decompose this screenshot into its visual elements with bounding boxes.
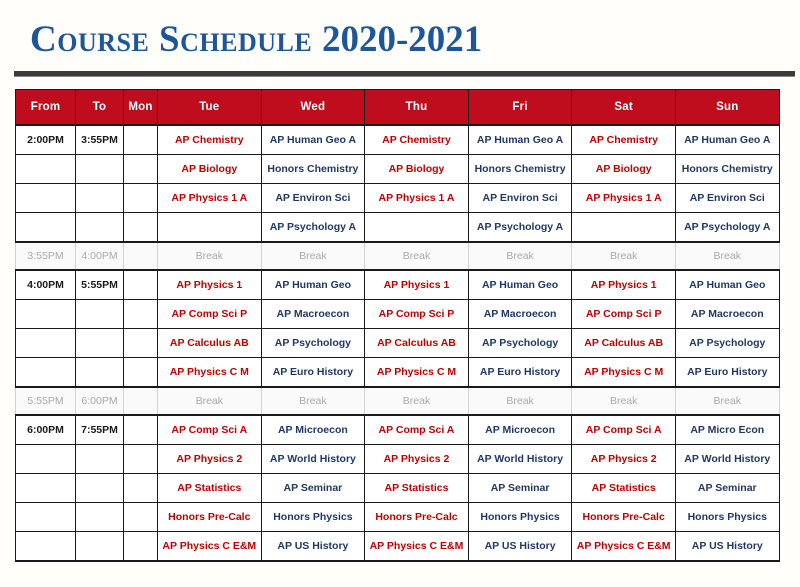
- cell-fri: AP Microecon: [468, 415, 572, 445]
- table-row: AP StatisticsAP SeminarAP StatisticsAP S…: [16, 474, 780, 503]
- cell-from: [16, 213, 76, 243]
- cell-tue: AP Biology: [158, 155, 262, 184]
- cell-from: [16, 532, 76, 562]
- table-row: AP BiologyHonors ChemistryAP BiologyHono…: [16, 155, 780, 184]
- table-row: AP Physics C E&MAP US HistoryAP Physics …: [16, 532, 780, 562]
- cell-thu: Break: [365, 242, 469, 270]
- cell-wed: AP Human Geo: [261, 270, 365, 300]
- cell-from: [16, 445, 76, 474]
- cell-mon: [124, 213, 158, 243]
- document-page: Course Schedule 2020-2021 From To Mon Tu…: [0, 0, 800, 587]
- table-row: Honors Pre-CalcHonors PhysicsHonors Pre-…: [16, 503, 780, 532]
- cell-thu: Break: [365, 387, 469, 415]
- cell-sat: AP Biology: [572, 155, 676, 184]
- cell-to: [76, 474, 124, 503]
- cell-tue: Break: [158, 242, 262, 270]
- cell-fri: AP Human Geo A: [468, 125, 572, 155]
- cell-thu: AP Calculus AB: [365, 329, 469, 358]
- cell-from: 3:55PM: [16, 242, 76, 270]
- cell-from: [16, 300, 76, 329]
- cell-to: [76, 155, 124, 184]
- cell-wed: Honors Physics: [261, 503, 365, 532]
- column-header-tue: Tue: [158, 90, 262, 126]
- cell-tue: AP Physics 2: [158, 445, 262, 474]
- column-header-mon: Mon: [124, 90, 158, 126]
- cell-thu: [365, 213, 469, 243]
- cell-sun: AP Seminar: [675, 474, 779, 503]
- cell-thu: Honors Pre-Calc: [365, 503, 469, 532]
- cell-to: [76, 503, 124, 532]
- cell-sun: AP Micro Econ: [675, 415, 779, 445]
- cell-to: 3:55PM: [76, 125, 124, 155]
- cell-fri: Honors Chemistry: [468, 155, 572, 184]
- cell-fri: AP World History: [468, 445, 572, 474]
- cell-sat: AP Comp Sci P: [572, 300, 676, 329]
- cell-to: [76, 184, 124, 213]
- cell-mon: [124, 474, 158, 503]
- cell-sat: AP Physics C M: [572, 358, 676, 388]
- cell-wed: AP Macroecon: [261, 300, 365, 329]
- cell-tue: [158, 213, 262, 243]
- cell-mon: [124, 358, 158, 388]
- cell-to: [76, 358, 124, 388]
- table-row: 2:00PM3:55PMAP ChemistryAP Human Geo AAP…: [16, 125, 780, 155]
- cell-from: [16, 329, 76, 358]
- cell-tue: AP Physics C M: [158, 358, 262, 388]
- cell-mon: [124, 329, 158, 358]
- cell-tue: AP Statistics: [158, 474, 262, 503]
- table-row: AP Physics 1 AAP Environ SciAP Physics 1…: [16, 184, 780, 213]
- cell-sun: AP Psychology: [675, 329, 779, 358]
- cell-wed: AP Psychology A: [261, 213, 365, 243]
- table-body: 2:00PM3:55PMAP ChemistryAP Human Geo AAP…: [16, 125, 780, 561]
- cell-fri: AP Psychology: [468, 329, 572, 358]
- cell-to: 4:00PM: [76, 242, 124, 270]
- cell-sun: Honors Physics: [675, 503, 779, 532]
- cell-wed: AP Seminar: [261, 474, 365, 503]
- cell-fri: AP Macroecon: [468, 300, 572, 329]
- table-row: 5:55PM6:00PMBreakBreakBreakBreakBreakBre…: [16, 387, 780, 415]
- cell-to: [76, 445, 124, 474]
- cell-wed: Break: [261, 242, 365, 270]
- cell-thu: AP Biology: [365, 155, 469, 184]
- cell-mon: [124, 415, 158, 445]
- cell-mon: [124, 184, 158, 213]
- table-header-row: From To Mon Tue Wed Thu Fri Sat Sun: [16, 90, 780, 126]
- cell-from: [16, 474, 76, 503]
- cell-from: 5:55PM: [16, 387, 76, 415]
- cell-wed: AP Psychology: [261, 329, 365, 358]
- cell-sun: Break: [675, 242, 779, 270]
- cell-tue: AP Physics 1 A: [158, 184, 262, 213]
- table-header: From To Mon Tue Wed Thu Fri Sat Sun: [16, 90, 780, 126]
- cell-fri: Honors Physics: [468, 503, 572, 532]
- cell-sat: AP Physics 2: [572, 445, 676, 474]
- table-row: AP Comp Sci PAP MacroeconAP Comp Sci PAP…: [16, 300, 780, 329]
- cell-fri: AP Human Geo: [468, 270, 572, 300]
- table-row: AP Physics C MAP Euro HistoryAP Physics …: [16, 358, 780, 388]
- cell-fri: Break: [468, 242, 572, 270]
- cell-wed: AP Euro History: [261, 358, 365, 388]
- page-title: Course Schedule 2020-2021: [30, 16, 482, 62]
- table-row: AP Calculus ABAP PsychologyAP Calculus A…: [16, 329, 780, 358]
- cell-sat: AP Calculus AB: [572, 329, 676, 358]
- cell-tue: AP Comp Sci A: [158, 415, 262, 445]
- cell-thu: AP Comp Sci P: [365, 300, 469, 329]
- cell-from: 2:00PM: [16, 125, 76, 155]
- cell-mon: [124, 532, 158, 562]
- cell-sat: Break: [572, 242, 676, 270]
- cell-to: [76, 300, 124, 329]
- cell-thu: AP Comp Sci A: [365, 415, 469, 445]
- table-row: 3:55PM4:00PMBreakBreakBreakBreakBreakBre…: [16, 242, 780, 270]
- cell-to: [76, 329, 124, 358]
- cell-mon: [124, 503, 158, 532]
- cell-sat: Break: [572, 387, 676, 415]
- cell-to: [76, 532, 124, 562]
- cell-sun: AP Human Geo: [675, 270, 779, 300]
- cell-to: [76, 213, 124, 243]
- cell-tue: Break: [158, 387, 262, 415]
- cell-sun: AP Human Geo A: [675, 125, 779, 155]
- cell-mon: [124, 270, 158, 300]
- cell-wed: Break: [261, 387, 365, 415]
- table-row: AP Psychology AAP Psychology AAP Psychol…: [16, 213, 780, 243]
- cell-sun: AP Environ Sci: [675, 184, 779, 213]
- page-title-main: Course Schedule: [30, 19, 322, 60]
- cell-sun: AP Macroecon: [675, 300, 779, 329]
- cell-mon: [124, 445, 158, 474]
- cell-from: [16, 358, 76, 388]
- column-header-from: From: [16, 90, 76, 126]
- cell-thu: AP Physics C M: [365, 358, 469, 388]
- column-header-to: To: [76, 90, 124, 126]
- cell-thu: AP Physics C E&M: [365, 532, 469, 562]
- table-row: 4:00PM5:55PMAP Physics 1AP Human GeoAP P…: [16, 270, 780, 300]
- cell-from: [16, 503, 76, 532]
- cell-wed: AP US History: [261, 532, 365, 562]
- cell-sun: Honors Chemistry: [675, 155, 779, 184]
- cell-wed: AP Environ Sci: [261, 184, 365, 213]
- cell-fri: Break: [468, 387, 572, 415]
- cell-fri: AP Euro History: [468, 358, 572, 388]
- cell-sat: AP Chemistry: [572, 125, 676, 155]
- cell-sun: AP Psychology A: [675, 213, 779, 243]
- column-header-fri: Fri: [468, 90, 572, 126]
- cell-to: 5:55PM: [76, 270, 124, 300]
- title-divider: [14, 71, 795, 77]
- cell-tue: AP Chemistry: [158, 125, 262, 155]
- cell-tue: AP Comp Sci P: [158, 300, 262, 329]
- page-title-text: Course Schedule 2020-2021: [30, 21, 482, 58]
- cell-wed: AP Microecon: [261, 415, 365, 445]
- cell-sat: AP Statistics: [572, 474, 676, 503]
- cell-sat: AP Physics 1: [572, 270, 676, 300]
- cell-mon: [124, 155, 158, 184]
- cell-wed: AP Human Geo A: [261, 125, 365, 155]
- cell-sat: AP Physics C E&M: [572, 532, 676, 562]
- cell-tue: Honors Pre-Calc: [158, 503, 262, 532]
- cell-sat: [572, 213, 676, 243]
- cell-from: 6:00PM: [16, 415, 76, 445]
- cell-sun: Break: [675, 387, 779, 415]
- cell-wed: Honors Chemistry: [261, 155, 365, 184]
- cell-sat: AP Physics 1 A: [572, 184, 676, 213]
- cell-sun: AP Euro History: [675, 358, 779, 388]
- cell-fri: AP Seminar: [468, 474, 572, 503]
- cell-to: 6:00PM: [76, 387, 124, 415]
- cell-wed: AP World History: [261, 445, 365, 474]
- cell-sat: AP Comp Sci A: [572, 415, 676, 445]
- cell-thu: AP Statistics: [365, 474, 469, 503]
- cell-from: 4:00PM: [16, 270, 76, 300]
- cell-thu: AP Chemistry: [365, 125, 469, 155]
- cell-mon: [124, 300, 158, 329]
- page-title-years: 2020-2021: [322, 19, 482, 60]
- cell-to: 7:55PM: [76, 415, 124, 445]
- cell-sun: AP US History: [675, 532, 779, 562]
- column-header-sun: Sun: [675, 90, 779, 126]
- column-header-wed: Wed: [261, 90, 365, 126]
- cell-mon: [124, 387, 158, 415]
- table-row: AP Physics 2AP World HistoryAP Physics 2…: [16, 445, 780, 474]
- cell-from: [16, 184, 76, 213]
- cell-tue: AP Physics 1: [158, 270, 262, 300]
- cell-fri: AP Environ Sci: [468, 184, 572, 213]
- cell-thu: AP Physics 2: [365, 445, 469, 474]
- column-header-sat: Sat: [572, 90, 676, 126]
- cell-sat: Honors Pre-Calc: [572, 503, 676, 532]
- cell-sun: AP World History: [675, 445, 779, 474]
- column-header-thu: Thu: [365, 90, 469, 126]
- cell-mon: [124, 125, 158, 155]
- course-schedule-table: From To Mon Tue Wed Thu Fri Sat Sun 2:00…: [15, 89, 780, 562]
- cell-tue: AP Physics C E&M: [158, 532, 262, 562]
- table-row: 6:00PM7:55PMAP Comp Sci AAP MicroeconAP …: [16, 415, 780, 445]
- cell-mon: [124, 242, 158, 270]
- cell-thu: AP Physics 1: [365, 270, 469, 300]
- cell-thu: AP Physics 1 A: [365, 184, 469, 213]
- cell-tue: AP Calculus AB: [158, 329, 262, 358]
- cell-fri: AP Psychology A: [468, 213, 572, 243]
- cell-fri: AP US History: [468, 532, 572, 562]
- cell-from: [16, 155, 76, 184]
